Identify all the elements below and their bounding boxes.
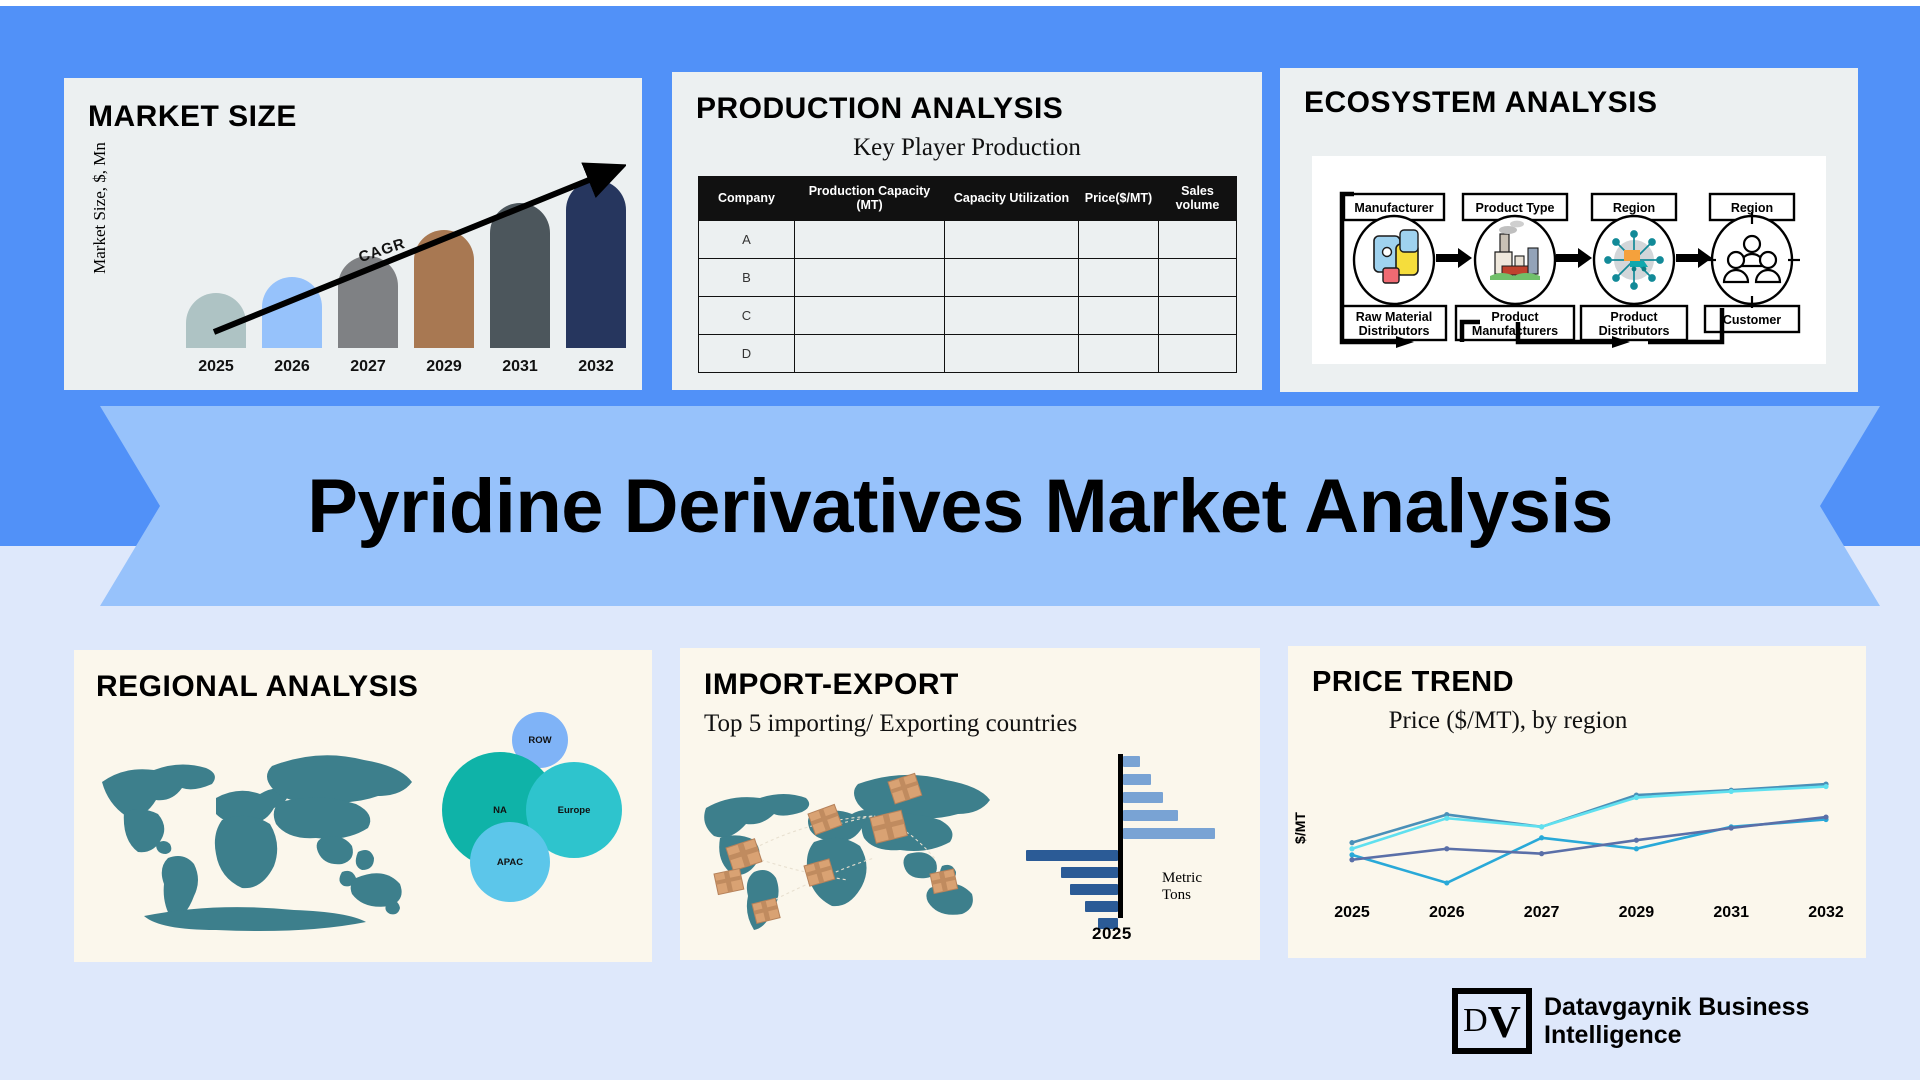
- production-analysis-subtitle: Key Player Production: [672, 134, 1262, 162]
- export-bar-3: [1085, 901, 1118, 912]
- table-cell: [945, 296, 1079, 334]
- data-point: [1823, 784, 1828, 789]
- import-bar-2: [1123, 792, 1163, 803]
- data-point: [1349, 857, 1354, 862]
- data-point: [1729, 825, 1734, 830]
- column-header: Sales volume: [1159, 177, 1237, 221]
- market-size-title: MARKET SIZE: [88, 100, 297, 134]
- data-point: [1729, 789, 1734, 794]
- price-line-region-2: [1352, 787, 1826, 849]
- data-point: [1823, 814, 1828, 819]
- table-cell: [1159, 220, 1237, 258]
- ecosystem-bottom-0-label: Raw Material: [1356, 310, 1432, 324]
- bar-2031: [490, 203, 550, 348]
- ecosystem-bottom-2-label: Product: [1610, 310, 1658, 324]
- data-point: [1444, 816, 1449, 821]
- price-trend-title: PRICE TREND: [1312, 666, 1514, 699]
- x-label-2025: 2025: [1334, 904, 1370, 922]
- logo-letter-v: V: [1488, 995, 1521, 1048]
- x-label-2032: 2032: [1808, 904, 1844, 922]
- ecosystem-bottom-1-label: Product: [1491, 310, 1539, 324]
- table-cell: [1079, 296, 1159, 334]
- ecosystem-diagram: ManufacturerProduct TypeRegionRegion Raw…: [1312, 156, 1826, 364]
- logo-line-1: Datavgaynik Business: [1544, 993, 1809, 1021]
- table-cell: [945, 258, 1079, 296]
- regional-analysis-panel: REGIONAL ANALYSIS ROWNAEuropeAPAC: [74, 650, 652, 962]
- import-export-title: IMPORT-EXPORT: [704, 668, 959, 702]
- x-label-2031: 2031: [490, 358, 550, 376]
- regional-analysis-title: REGIONAL ANALYSIS: [96, 670, 418, 704]
- market-size-x-axis-labels: 202520262027202920312032: [186, 358, 626, 376]
- export-bar-1: [1061, 867, 1118, 878]
- ecosystem-analysis-panel: ECOSYSTEM ANALYSIS ManufacturerProduct T…: [1280, 68, 1858, 392]
- data-point: [1349, 852, 1354, 857]
- column-header: Production Capacity (MT): [795, 177, 945, 221]
- table-cell: [945, 220, 1079, 258]
- data-point: [1539, 824, 1544, 829]
- table-header-row: CompanyProduction Capacity (MT)Capacity …: [699, 177, 1237, 221]
- x-label-2031: 2031: [1713, 904, 1749, 922]
- trade-route-map-graphic: [692, 756, 1012, 936]
- table-cell: C: [699, 296, 795, 334]
- import-export-tornado-chart: Metric Tons 2025: [1010, 748, 1230, 948]
- tornado-center-axis: [1118, 754, 1123, 918]
- market-size-chart: CAGR 202520262027202920312032: [186, 160, 626, 380]
- import-bar-4: [1123, 828, 1215, 839]
- data-point: [1539, 835, 1544, 840]
- import-export-subtitle: Top 5 importing/ Exporting countries: [704, 710, 1077, 738]
- table-cell: [1079, 258, 1159, 296]
- ecosystem-bottom-3-label: Customer: [1723, 313, 1781, 327]
- market-size-bar: [262, 163, 322, 348]
- x-label-2029: 2029: [414, 358, 474, 376]
- ecosystem-top-0-label: Manufacturer: [1354, 201, 1433, 215]
- table-cell: [795, 258, 945, 296]
- table-cell: [795, 296, 945, 334]
- logo-wordmark: Datavgaynik Business Intelligence: [1544, 993, 1809, 1049]
- logo-letter-d: D: [1463, 1002, 1488, 1040]
- import-bar-0: [1123, 756, 1140, 767]
- bar-2026: [262, 277, 322, 348]
- x-label-2026: 2026: [1429, 904, 1465, 922]
- price-trend-y-axis-label: $/MT: [1292, 812, 1308, 844]
- production-analysis-panel: PRODUCTION ANALYSIS Key Player Productio…: [672, 72, 1262, 390]
- market-size-bar: [186, 163, 246, 348]
- import-bar-3: [1123, 810, 1178, 821]
- table-cell: [1159, 296, 1237, 334]
- column-header: Capacity Utilization: [945, 177, 1079, 221]
- ecosystem-bottom-1-label: Manufacturers: [1472, 324, 1558, 338]
- table-cell: A: [699, 220, 795, 258]
- price-trend-subtitle: Price ($/MT), by region: [1348, 706, 1668, 736]
- table-cell: [1159, 258, 1237, 296]
- price-line-region-4: [1352, 817, 1826, 860]
- price-trend-panel: PRICE TREND Price ($/MT), by region $/MT…: [1288, 646, 1866, 958]
- bar-2027: [338, 256, 398, 349]
- x-label-2029: 2029: [1619, 904, 1655, 922]
- table-cell: B: [699, 258, 795, 296]
- table-row: B: [699, 258, 1237, 296]
- table-row: C: [699, 296, 1237, 334]
- world-map-graphic: [84, 720, 424, 940]
- x-label-2027: 2027: [338, 358, 398, 376]
- main-title-ribbon: Pyridine Derivatives Market Analysis: [40, 406, 1880, 606]
- export-bar-2: [1070, 884, 1118, 895]
- column-header: Price($/MT): [1079, 177, 1159, 221]
- ecosystem-top-2-label: Region: [1613, 201, 1655, 215]
- market-size-bar: [566, 163, 626, 348]
- import-export-panel: IMPORT-EXPORT Top 5 importing/ Exporting…: [680, 648, 1260, 960]
- x-label-2027: 2027: [1524, 904, 1560, 922]
- table-cell: [795, 220, 945, 258]
- ecosystem-bottom-2-label: Distributors: [1599, 324, 1670, 338]
- table-cell: D: [699, 334, 795, 372]
- bar-2025: [186, 293, 246, 349]
- export-bar-0: [1026, 850, 1118, 861]
- ecosystem-top-1-label: Product Type: [1476, 201, 1555, 215]
- bar-2029: [414, 230, 474, 348]
- data-point: [1444, 880, 1449, 885]
- table-cell: [1079, 220, 1159, 258]
- market-size-bar-group: [186, 163, 626, 348]
- distribution-network-icon: [1605, 231, 1663, 289]
- data-point: [1349, 846, 1354, 851]
- data-point: [1539, 851, 1544, 856]
- company-logo: D V Datavgaynik Business Intelligence: [1452, 988, 1809, 1054]
- table-row: A: [699, 220, 1237, 258]
- table-cell: [945, 334, 1079, 372]
- production-analysis-title: PRODUCTION ANALYSIS: [696, 92, 1063, 126]
- price-trend-line-chart: [1334, 774, 1844, 904]
- market-size-y-axis-label: Market Size, $, Mn: [90, 128, 110, 288]
- market-size-bar: [490, 163, 550, 348]
- tornado-year-label: 2025: [1092, 924, 1132, 944]
- table-row: D: [699, 334, 1237, 372]
- import-bar-1: [1123, 774, 1151, 785]
- x-label-2032: 2032: [566, 358, 626, 376]
- bar-2032: [566, 180, 626, 348]
- table-cell: [795, 334, 945, 372]
- data-point: [1634, 795, 1639, 800]
- data-point: [1634, 838, 1639, 843]
- market-size-bar: [414, 163, 474, 348]
- page-title: Pyridine Derivatives Market Analysis: [307, 463, 1613, 550]
- table-cell: [1159, 334, 1237, 372]
- x-label-2026: 2026: [262, 358, 322, 376]
- region-bubble-apac: APAC: [470, 822, 550, 902]
- data-point: [1634, 846, 1639, 851]
- table-cell: [1079, 334, 1159, 372]
- key-player-production-table: CompanyProduction Capacity (MT)Capacity …: [698, 176, 1237, 373]
- tornado-axis-label: Metric Tons: [1162, 870, 1230, 904]
- data-point: [1349, 840, 1354, 845]
- region-bubble-group: ROWNAEuropeAPAC: [442, 712, 642, 942]
- ecosystem-bottom-0-label: Distributors: [1359, 324, 1430, 338]
- table-body: ABCD: [699, 220, 1237, 372]
- market-size-panel: MARKET SIZE Market Size, $, Mn CAGR 2025…: [64, 78, 642, 390]
- ecosystem-analysis-title: ECOSYSTEM ANALYSIS: [1304, 86, 1658, 120]
- column-header: Company: [699, 177, 795, 221]
- logo-line-2: Intelligence: [1544, 1021, 1809, 1049]
- data-point: [1444, 846, 1449, 851]
- x-label-2025: 2025: [186, 358, 246, 376]
- logo-mark-dv: D V: [1452, 988, 1532, 1054]
